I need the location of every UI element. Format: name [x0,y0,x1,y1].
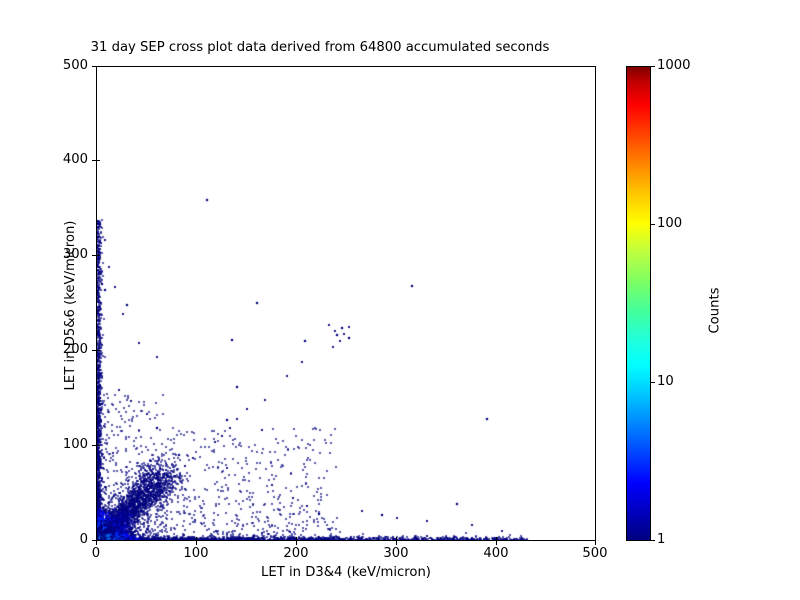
cbtick-100 [651,224,655,225]
xtick-300-i [396,537,397,541]
xtick-200-i [296,537,297,541]
xtick-200 [296,541,297,545]
xtick-0 [96,541,97,545]
xticklabel-200: 200 [261,546,331,561]
xtick-400-i [496,537,497,541]
ytick-400-i [96,160,100,161]
xtick-500-i [595,537,596,541]
xtick-100 [196,541,197,545]
scatter-plot-canvas [97,67,596,541]
yticklabel-400: 400 [28,152,88,167]
ytick-0-i [96,540,100,541]
colorbar-label: Counts [708,191,723,431]
colorbar-gradient [626,66,651,541]
cbticklabel-10: 10 [657,374,674,389]
xticklabel-0: 0 [61,546,131,561]
figure-canvas: 31 day SEP cross plot data derived from … [0,0,800,600]
ytick-200-i [96,350,100,351]
xticklabel-300: 300 [361,546,431,561]
xtick-100-i [196,537,197,541]
cbticklabel-100: 100 [657,216,682,231]
y-axis-label: LET in D5&6 (keV/micron) [63,68,78,543]
cbtick-1 [651,540,655,541]
cbtick-1000 [651,66,655,67]
xticklabel-500: 500 [560,546,630,561]
plot-axes [96,66,596,541]
xticklabel-100: 100 [161,546,231,561]
xtick-400 [496,541,497,545]
cbticklabel-1000: 1000 [657,58,691,73]
title-line-1: 31 day SEP cross plot data derived from … [0,40,640,57]
cbtick-10 [651,382,655,383]
xtick-500 [595,541,596,545]
ytick-100-i [96,445,100,446]
yticklabel-0: 0 [28,532,88,547]
xticklabel-400: 400 [461,546,531,561]
yticklabel-500: 500 [28,58,88,73]
ytick-300-i [96,255,100,256]
cbticklabel-1: 1 [657,532,665,547]
yticklabel-100: 100 [28,437,88,452]
ytick-500-i [96,66,100,67]
yticklabel-300: 300 [28,247,88,262]
yticklabel-200: 200 [28,342,88,357]
x-axis-label: LET in D3&4 (keV/micron) [96,565,596,580]
xtick-300 [396,541,397,545]
